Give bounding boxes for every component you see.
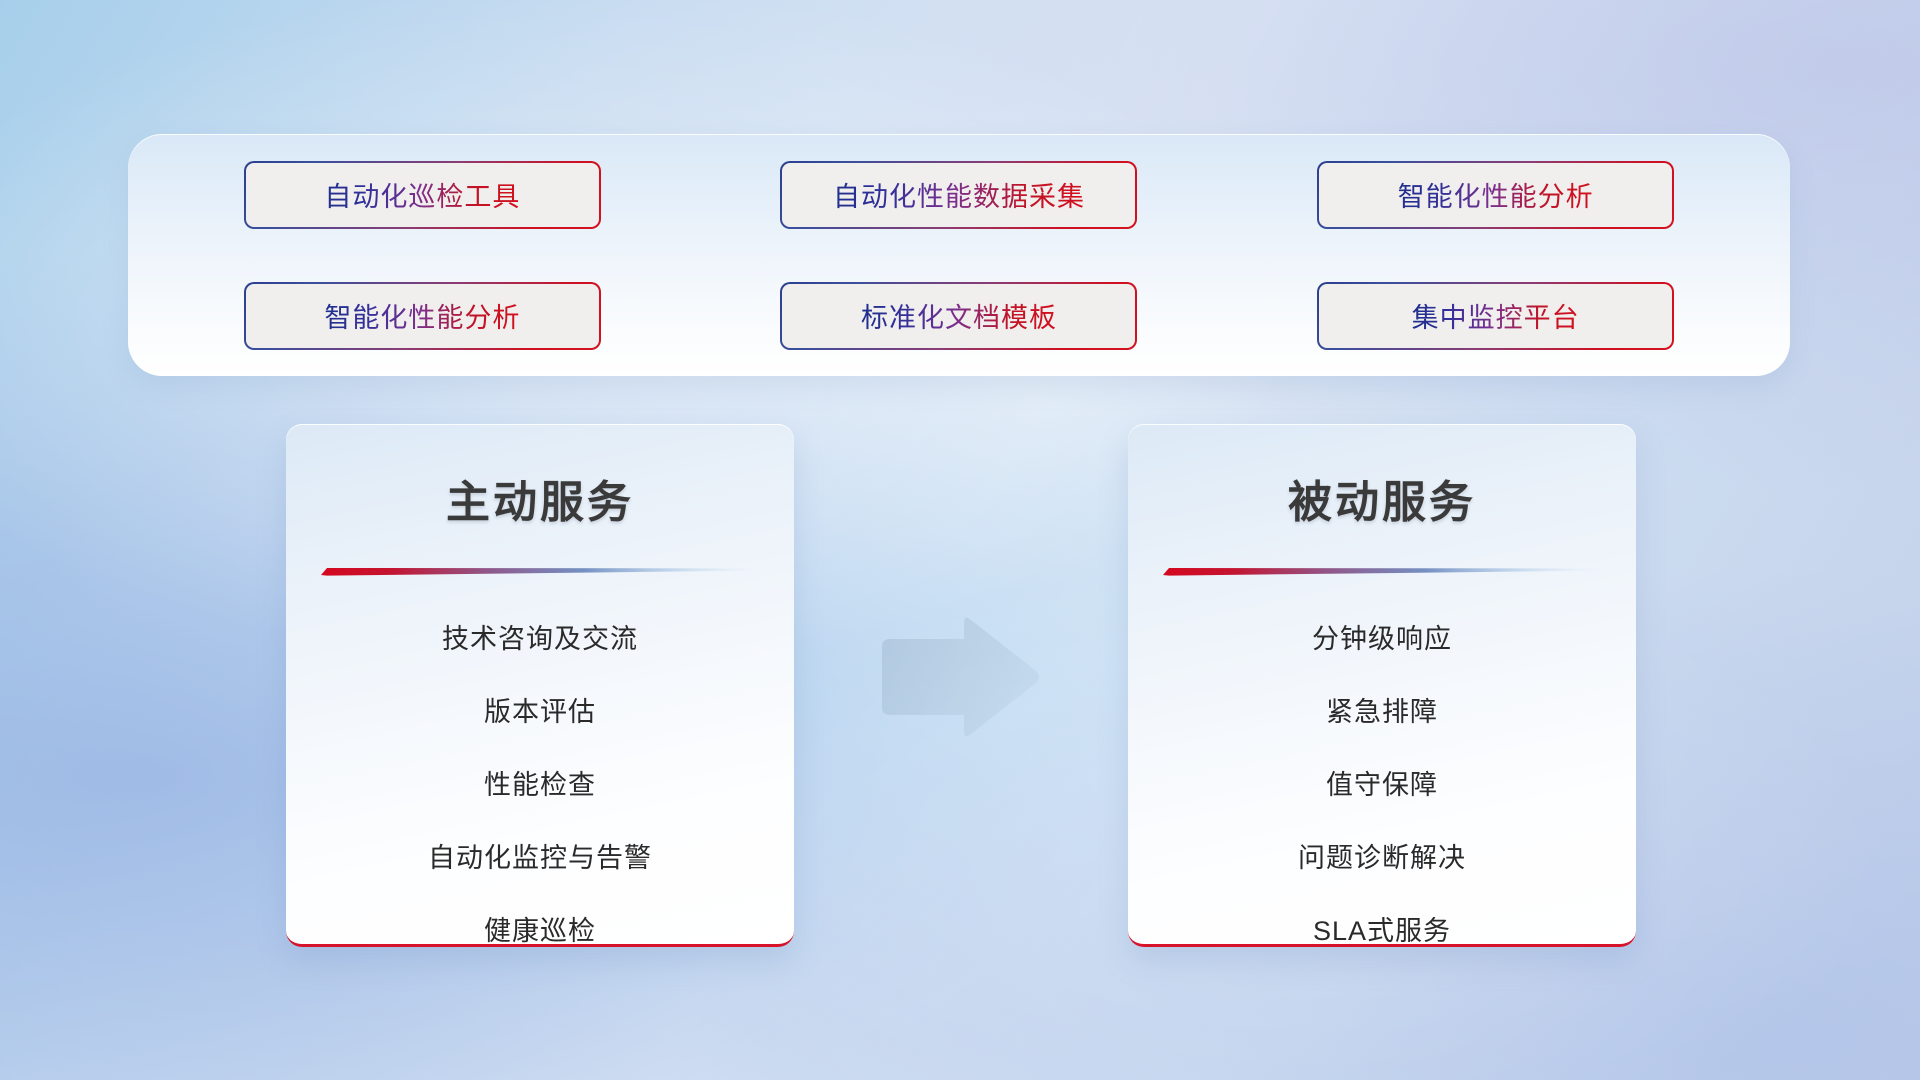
tools-panel: 自动化巡检工具 自动化性能数据采集 智能化性能分析 智能化性能分析 标准化文档模… bbox=[128, 134, 1790, 376]
tool-pill-2-label: 自动化性能数据采集 bbox=[833, 175, 1085, 214]
list-item[interactable]: 问题诊断解决 bbox=[1128, 831, 1636, 886]
list-item[interactable]: 健康巡检 bbox=[286, 904, 794, 947]
list-item[interactable]: 自动化监控与告警 bbox=[286, 831, 794, 886]
tool-pill-1-body: 自动化巡检工具 bbox=[246, 163, 599, 227]
tool-pill-2-body: 自动化性能数据采集 bbox=[782, 163, 1135, 227]
list-item[interactable]: 版本评估 bbox=[286, 685, 794, 740]
reactive-service-card: 被动服务 分钟级响应 紧急排障 值守保障 bbox=[1128, 424, 1636, 947]
reactive-card-title: 被动服务 bbox=[1128, 466, 1636, 530]
tool-pill-1-label: 自动化巡检工具 bbox=[324, 175, 520, 214]
tool-pill-6-body: 集中监控平台 bbox=[1319, 284, 1672, 348]
list-item[interactable]: SLA式服务 bbox=[1128, 904, 1636, 947]
list-item[interactable]: 分钟级响应 bbox=[1128, 612, 1636, 667]
tool-pill-3[interactable]: 智能化性能分析 bbox=[1317, 161, 1674, 229]
proactive-card-divider bbox=[321, 564, 759, 576]
tool-pill-4[interactable]: 智能化性能分析 bbox=[244, 282, 601, 350]
diagram-stage: 自动化巡检工具 自动化性能数据采集 智能化性能分析 智能化性能分析 标准化文档模… bbox=[0, 0, 1920, 1080]
tool-pill-3-label: 智能化性能分析 bbox=[1398, 175, 1594, 214]
list-item[interactable]: 性能检查 bbox=[286, 758, 794, 813]
reactive-card-divider bbox=[1163, 564, 1601, 576]
proactive-card-title: 主动服务 bbox=[286, 466, 794, 530]
tool-pill-5-body: 标准化文档模板 bbox=[782, 284, 1135, 348]
list-item[interactable]: 紧急排障 bbox=[1128, 685, 1636, 740]
list-item[interactable]: 技术咨询及交流 bbox=[286, 612, 794, 667]
tool-pill-4-label: 智能化性能分析 bbox=[324, 296, 520, 335]
tool-pill-6-label: 集中监控平台 bbox=[1412, 296, 1580, 335]
tool-pill-1[interactable]: 自动化巡检工具 bbox=[244, 161, 601, 229]
tool-pill-2[interactable]: 自动化性能数据采集 bbox=[780, 161, 1137, 229]
tool-pill-6[interactable]: 集中监控平台 bbox=[1317, 282, 1674, 350]
tool-pill-3-body: 智能化性能分析 bbox=[1319, 163, 1672, 227]
proactive-card-list: 技术咨询及交流 版本评估 性能检查 自动化监控与告警 健康巡检 bbox=[286, 612, 794, 947]
list-item[interactable]: 值守保障 bbox=[1128, 758, 1636, 813]
proactive-service-card: 主动服务 技术咨询及交流 版本评估 性能检查 bbox=[286, 424, 794, 947]
tool-pill-5[interactable]: 标准化文档模板 bbox=[780, 282, 1137, 350]
arrow-right-icon bbox=[872, 613, 1044, 741]
tool-pill-5-label: 标准化文档模板 bbox=[861, 296, 1057, 335]
tool-pill-4-body: 智能化性能分析 bbox=[246, 284, 599, 348]
reactive-card-list: 分钟级响应 紧急排障 值守保障 问题诊断解决 SLA式服务 bbox=[1128, 612, 1636, 947]
